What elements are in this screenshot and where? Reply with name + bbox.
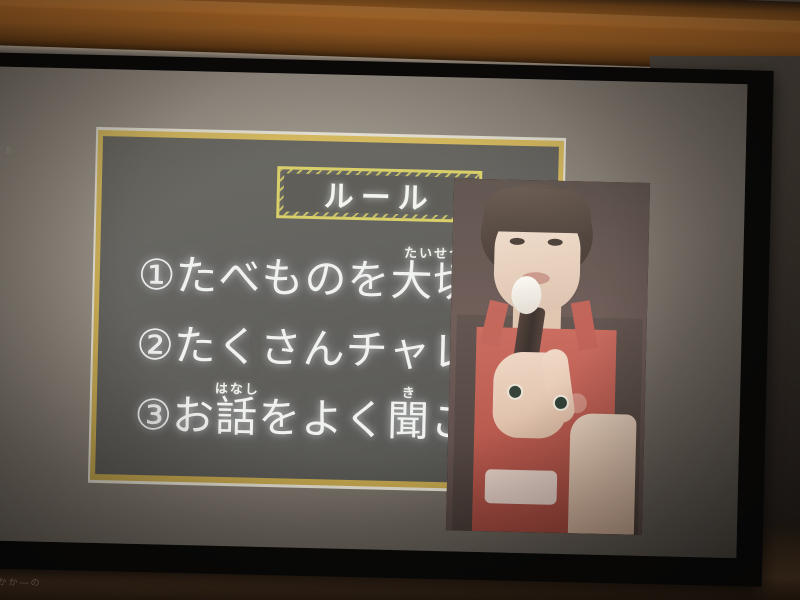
screen-vignette: [0, 66, 747, 558]
faint-bottom-left-marker: かか—の: [0, 575, 42, 589]
beam-highlight: [0, 0, 800, 35]
screenshot-stage: ／あ かか—の ルール ① た: [0, 0, 800, 600]
projection-surface: ／あ かか—の ルール ① た: [0, 66, 747, 558]
projector-screen-frame: ／あ かか—の ルール ① た: [0, 52, 774, 587]
